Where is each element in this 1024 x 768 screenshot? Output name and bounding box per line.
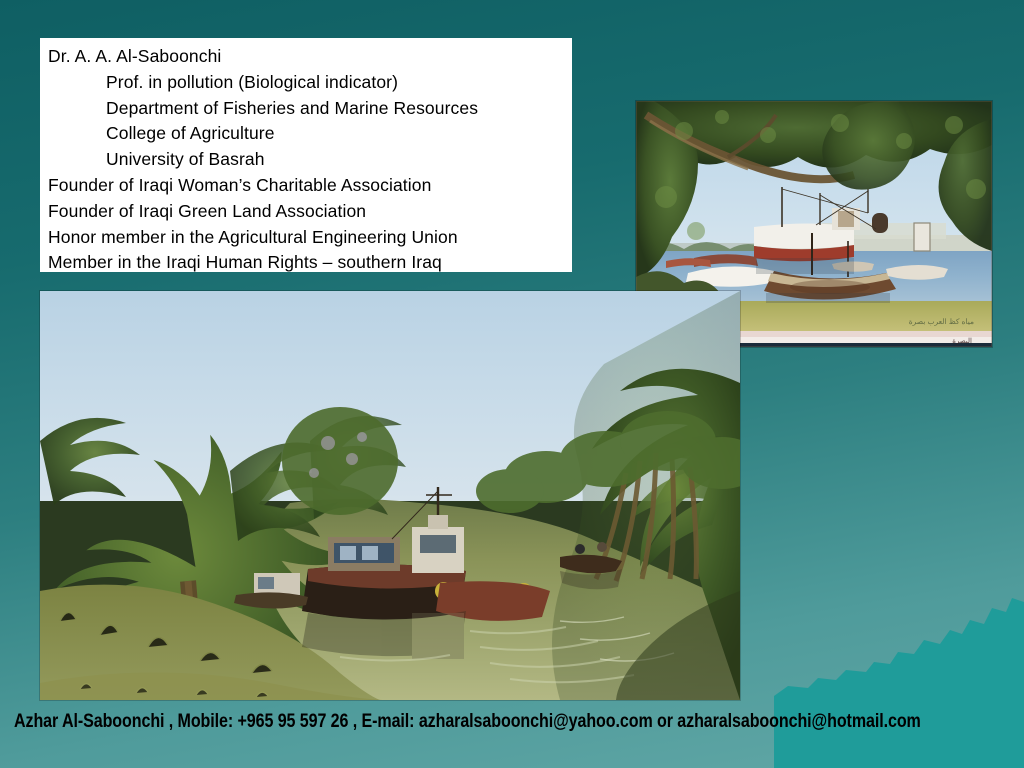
credentials-line: Prof. in pollution (Biological indicator… [48,70,564,96]
presentation-slide: Dr. A. A. Al-Saboonchi Prof. in pollutio… [0,0,1024,768]
credentials-line: Founder of Iraqi Woman’s Charitable Asso… [48,173,564,199]
decorative-corner-shape [774,568,1024,768]
credentials-line: College of Agriculture [48,121,564,147]
credentials-line: Founder of Iraqi Green Land Association [48,199,564,225]
credentials-text-box: Dr. A. A. Al-Saboonchi Prof. in pollutio… [40,38,572,272]
credentials-line: Department of Fisheries and Marine Resou… [48,96,564,122]
main-river-artwork [40,291,740,700]
main-river-photo [40,291,740,700]
credentials-line: University of Basrah [48,147,564,173]
footer-contact-line: Azhar Al-Saboonchi , Mobile: +965 95 597… [14,711,859,733]
credentials-line: Honor member in the Agricultural Enginee… [48,225,564,251]
credentials-line: Member in the Iraqi Human Rights – south… [48,250,564,276]
credentials-line: Dr. A. A. Al-Saboonchi [48,44,564,70]
